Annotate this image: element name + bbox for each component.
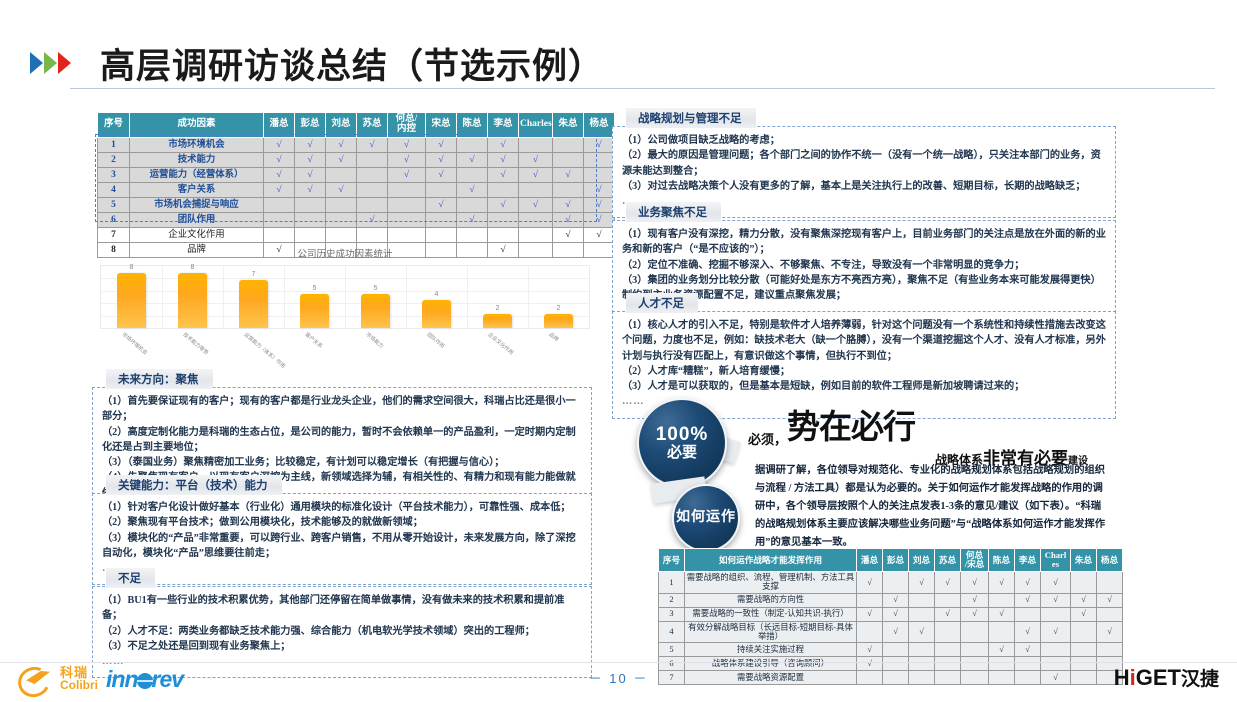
page-title: 高层调研访谈总结（节选示例） [100,38,604,89]
chart-x-label: 运营能力（体系）作用 [242,331,286,370]
chart-bar-value: 5 [303,285,327,292]
section-heading: 关键能力：平台（技术）能力 [106,475,282,495]
section-line: （3）模块化的“产品”非常重要，可以跨行业、跨客户销售，不用从零开始设计，未来发… [102,531,582,562]
check-cell [388,182,426,197]
row-label: 市场机会捕捉与响应 [130,197,264,212]
table-row: 4有效分解战略目标（长远目标-短期目标-具体举措）√√√√√ [659,621,1123,642]
check-cell: √ [584,197,615,212]
check-cell [488,182,519,197]
check-cell: √ [883,593,909,607]
check-cell [553,182,584,197]
check-cell [426,212,457,227]
check-cell: √ [326,152,357,167]
check-cell [457,167,488,182]
section-line: （2）人才不足：两类业务都缺乏技术能力强、综合能力（机电软光学技术领域）突出的工… [102,624,582,639]
chart-bar [544,314,572,328]
check-cell: √ [935,572,961,593]
table-row: 1市场环境机会√√√√√√√√ [98,137,615,152]
check-cell: √ [1071,607,1097,621]
check-cell [584,167,615,182]
table-column-header: 成功因素 [130,113,264,138]
check-cell: √ [388,167,426,182]
table-column-header: 陈总 [457,113,488,138]
check-cell [989,621,1015,642]
section-line: （3）人才是可以获取的，但是基本是短缺，例如目前的软件工程师是新加坡聘请过来的； [622,379,1106,394]
section-line: （2）高度定制化能力是科瑞的生态占位，是公司的能力，暂时不会依赖单一的产品盈利，… [102,425,582,456]
check-cell: √ [426,197,457,212]
chart-bar-value: 2 [486,305,510,312]
chevron-decoration-icon [30,52,71,74]
slide-header: 高层调研访谈总结（节选示例） [0,18,1237,90]
check-cell [295,197,326,212]
section-line: （1）首先要保证现有的客户；现有的客户都是行业龙头企业，他们的需求空间很大，科瑞… [102,394,582,425]
section-line: （2）人才库“糟糕”，新人培育缓慢； [622,364,1106,379]
check-cell: √ [1071,593,1097,607]
check-cell: √ [295,182,326,197]
check-cell: √ [883,607,909,621]
check-cell [909,593,935,607]
check-cell: √ [457,152,488,167]
check-cell [388,227,426,242]
table-row: 2技术能力√√√√√√√√ [98,152,615,167]
check-cell: √ [519,152,553,167]
row-label: 需要战略的方向性 [685,593,857,607]
check-cell: √ [909,621,935,642]
check-cell [989,593,1015,607]
chart-bar-value: 4 [425,291,449,298]
check-cell [883,572,909,593]
slogan-prefix: 必须， [748,429,787,448]
chart-x-label: 市场能力 [364,331,384,350]
table-column-header: 朱总 [1071,549,1097,572]
check-cell [388,212,426,227]
row-label: 客户关系 [130,182,264,197]
section-line: （1）BU1有一些行业的技术积累优势，其他部门还停留在简单做事情，没有做未来的技… [102,593,582,624]
chart-plot-area: 88755422 [100,265,590,329]
check-cell: √ [1015,621,1041,642]
operation-strategy-table: 序号如何运作战略才能发挥作用潘总彭总刘总苏总何总/宋总陈总李总Charles朱总… [658,548,1118,685]
check-cell: √ [357,137,388,152]
check-cell [388,197,426,212]
check-cell [1097,642,1123,656]
check-cell: √ [426,152,457,167]
table-row: 5市场机会捕捉与响应√√√√√ [98,197,615,212]
chart-x-label: 团队作用 [425,331,445,350]
row-index: 3 [659,607,685,621]
check-cell: √ [326,137,357,152]
check-cell [553,152,584,167]
chart-x-label: 客户关系 [303,331,323,350]
table-success-factors: 序号成功因素潘总彭总刘总苏总何总/内控宋总陈总李总Charles朱总杨总 1市场… [97,112,615,258]
check-cell [519,227,553,242]
check-cell [357,167,388,182]
chart-gridline [284,266,285,328]
chart-gridline [528,266,529,328]
slide-root: 高层调研访谈总结（节选示例） 序号成功因素潘总彭总刘总苏总何总/内控宋总陈总李总… [0,0,1237,699]
chart-bar-value: 2 [547,305,571,312]
check-cell [1097,572,1123,593]
logo-higet: HiGET汉捷 [1114,664,1219,691]
badge-100-percent: 100% 必要 [637,398,727,488]
row-index: 5 [659,642,685,656]
section-heading: 业务聚焦不足 [626,202,721,222]
check-cell [519,212,553,227]
row-label: 需要战略的一致性（制定-认知共识-执行） [685,607,857,621]
check-cell [426,182,457,197]
row-index: 5 [98,197,130,212]
check-cell [264,197,295,212]
check-cell [935,642,961,656]
check-cell: √ [264,182,295,197]
check-cell: √ [553,227,584,242]
check-cell [1041,642,1071,656]
check-cell [1071,642,1097,656]
check-cell: √ [488,137,519,152]
badge-how-to-operate: 如何运作 [672,484,740,552]
chart-bar [117,273,145,328]
check-cell [1071,621,1097,642]
section-heading: 人才不足 [626,293,698,313]
check-cell: √ [264,152,295,167]
section-heading: 未来方向：聚焦 [106,369,213,389]
section-line: （1）核心人才的引入不足，特别是软件才人培养薄弱，针对这个问题没有一个系统性和持… [622,318,1106,364]
row-index: 4 [98,182,130,197]
slogan-main: 势在必行 [787,400,915,448]
row-index: 3 [98,167,130,182]
table-operation: 序号如何运作战略才能发挥作用潘总彭总刘总苏总何总/宋总陈总李总Charles朱总… [658,548,1123,685]
table-column-header: 宋总 [426,113,457,138]
check-cell: √ [1041,572,1071,593]
check-cell [519,182,553,197]
table-row: 3需要战略的一致性（制定-认知共识-执行）√√√√√√ [659,607,1123,621]
check-cell [1071,572,1097,593]
check-cell: √ [584,227,615,242]
check-cell: √ [519,167,553,182]
check-cell [264,227,295,242]
table-column-header: 何总/宋总 [961,549,989,572]
table-body: 1市场环境机会√√√√√√√√2技术能力√√√√√√√√3运营能力（经营体系）√… [98,137,615,257]
chart-bar-value: 5 [364,285,388,292]
check-cell: √ [295,152,326,167]
table-row: 1需要战略的组织、流程、管理机制、方法工具支撑√√√√√√√ [659,572,1123,593]
table-column-header: 序号 [98,113,130,138]
table-column-header: 杨总 [584,113,615,138]
table-column-header: 陈总 [989,549,1015,572]
check-cell [426,227,457,242]
row-index: 4 [659,621,685,642]
table-column-header: 杨总 [1097,549,1123,572]
check-cell [1015,607,1041,621]
table-column-header: 潘总 [857,549,883,572]
check-cell [357,152,388,167]
check-cell: √ [295,167,326,182]
check-cell: √ [584,182,615,197]
section-line: （2）聚焦现有平台技术；做到公用模块化，技术能够及的就做新领域； [102,515,582,530]
check-cell: √ [1015,593,1041,607]
check-cell: √ [961,572,989,593]
row-label: 企业文化作用 [130,227,264,242]
chart-bar [361,294,389,328]
table-row: 3运营能力（经营体系）√√√√√√√ [98,167,615,182]
check-cell: √ [584,212,615,227]
success-factor-table: 序号成功因素潘总彭总刘总苏总何总/内控宋总陈总李总Charles朱总杨总 1市场… [97,112,594,258]
section-line: （1）针对客户化设计做好基本（行业化）通用模块的标准化设计（平台技术能力），可靠… [102,500,582,515]
check-cell: √ [961,593,989,607]
section-heading: 不足 [106,568,155,588]
row-label: 持续关注实施过程 [685,642,857,656]
check-cell [264,212,295,227]
table-column-header: Charles [1041,549,1071,572]
check-cell: √ [357,212,388,227]
table-column-header: 苏总 [357,113,388,138]
check-cell [857,593,883,607]
check-cell: √ [909,572,935,593]
table-row: 2需要战略的方向性√√√√√√ [659,593,1123,607]
row-index: 7 [98,227,130,242]
row-index: 2 [659,593,685,607]
check-cell [883,642,909,656]
table-column-header: 刘总 [909,549,935,572]
check-cell [295,212,326,227]
check-cell: √ [488,152,519,167]
check-cell [457,197,488,212]
row-label: 需要战略的组织、流程、管理机制、方法工具支撑 [685,572,857,593]
chart-bar [300,294,328,328]
section-heading: 战略规划与管理不足 [626,108,756,128]
chart-bar-value: 8 [181,264,205,271]
chart-x-label: 企业文化作用 [486,331,514,356]
check-cell: √ [488,197,519,212]
check-cell [1041,607,1071,621]
check-cell: √ [488,167,519,182]
check-cell: √ [553,197,584,212]
higet-cn: 汉捷 [1181,669,1219,690]
table-column-header: 李总 [488,113,519,138]
row-index: 6 [98,212,130,227]
check-cell: √ [883,621,909,642]
check-cell [295,227,326,242]
check-cell: √ [426,167,457,182]
check-cell [488,227,519,242]
check-cell [961,642,989,656]
check-cell: √ [1097,621,1123,642]
history-success-chart: 公司历史成功因素统计 88755422 市场环境机会技术能力等势运营能力（体系）… [100,246,590,369]
table-column-header: Charles [519,113,553,138]
check-cell: √ [457,212,488,227]
check-cell: √ [961,607,989,621]
chart-gridline [162,266,163,328]
row-label: 团队作用 [130,212,264,227]
check-cell: √ [457,182,488,197]
table-column-header: 刘总 [326,113,357,138]
table-column-header: 苏总 [935,549,961,572]
chart-gridline [406,266,407,328]
row-index: 1 [659,572,685,593]
chart-bar [422,300,450,328]
row-index: 2 [98,152,130,167]
section-line: （2）定位不准确、挖掘不够深入、不够聚焦、不专注，导致没有一个非常明显的竞争力； [622,258,1106,273]
check-cell: √ [857,642,883,656]
check-cell [357,227,388,242]
check-cell: √ [553,167,584,182]
section-line: （3）不足之处还是回到现有业务聚焦上； [102,639,582,654]
check-cell [553,137,584,152]
chart-x-axis-labels: 市场环境机会技术能力等势运营能力（体系）作用客户关系市场能力团队作用企业文化作用… [100,329,590,369]
check-cell: √ [857,607,883,621]
check-cell [488,212,519,227]
check-cell [326,167,357,182]
check-cell: √ [388,152,426,167]
check-cell [357,182,388,197]
check-cell: √ [989,572,1015,593]
chart-title: 公司历史成功因素统计 [100,246,590,260]
title-divider [70,88,1215,89]
table-header-row: 序号成功因素潘总彭总刘总苏总何总/内控宋总陈总李总Charles朱总杨总 [98,113,615,138]
check-cell: √ [584,137,615,152]
table-column-header: 如何运作战略才能发挥作用 [685,549,857,572]
check-cell: √ [519,197,553,212]
check-cell [961,621,989,642]
check-cell [457,137,488,152]
check-cell: √ [935,607,961,621]
check-cell [457,227,488,242]
table-row: 5持续关注实施过程√√√ [659,642,1123,656]
check-cell: √ [1015,572,1041,593]
check-cell: √ [264,167,295,182]
check-cell [909,642,935,656]
badge-line-1: 如何运作 [676,511,736,526]
check-cell: √ [857,572,883,593]
table-column-header: 序号 [659,549,685,572]
chart-x-label: 市场环境机会 [120,331,148,356]
chart-x-label: 技术能力等势 [181,331,209,356]
check-cell [326,212,357,227]
check-cell: √ [388,137,426,152]
footer-divider [0,662,1237,663]
check-cell [909,607,935,621]
chart-gridline [223,266,224,328]
chart-gridline [345,266,346,328]
check-cell: √ [1041,593,1071,607]
check-cell: √ [1015,642,1041,656]
row-label: 技术能力 [130,152,264,167]
section-line: （1）公司做项目缺乏战略的考虑； [622,133,1106,148]
check-cell [357,197,388,212]
chart-bar [178,273,206,328]
section-line: （3）对过去战略决策个人没有更多的了解，基本上是关注执行上的改善、短期目标，长期… [622,179,1106,194]
badge-line-1: 100% [656,425,709,445]
check-cell: √ [326,182,357,197]
table-row: 7企业文化作用√√ [98,227,615,242]
check-cell: √ [295,137,326,152]
table-column-header: 彭总 [883,549,909,572]
check-cell [326,227,357,242]
slogan-block: 必须， 势在必行 战略体系非常有必要建设 [748,400,1088,469]
page-number: － 10 － [0,668,1237,687]
check-cell: √ [264,137,295,152]
table-column-header: 何总/内控 [388,113,426,138]
check-cell: √ [553,212,584,227]
check-cell [519,137,553,152]
row-label: 运营能力（经营体系） [130,167,264,182]
check-cell [935,593,961,607]
check-cell [857,621,883,642]
check-cell: √ [1041,621,1071,642]
chart-bar [239,280,267,328]
check-cell [935,621,961,642]
table-row: 4客户关系√√√√√ [98,182,615,197]
table-header-row: 序号如何运作战略才能发挥作用潘总彭总刘总苏总何总/宋总陈总李总Charles朱总… [659,549,1123,572]
chart-bar [483,314,511,328]
chart-bar-value: 7 [242,271,266,278]
check-cell [326,197,357,212]
table-column-header: 李总 [1015,549,1041,572]
chart-x-label: 品牌 [547,331,559,343]
check-cell: √ [426,137,457,152]
row-label: 有效分解战略目标（长远目标-短期目标-具体举措） [685,621,857,642]
chart-bar-value: 8 [120,264,144,271]
table-column-header: 朱总 [553,113,584,138]
section-line: （1）现有客户没有深挖，精力分散，没有聚焦深挖现有客户上，目前业务部门的关注点是… [622,227,1106,258]
check-cell [1097,607,1123,621]
table-row: 6团队作用√√√√ [98,212,615,227]
check-cell: √ [1097,593,1123,607]
summary-paragraph: 据调研了解，各位领导对规范化、专业化的战略规划体系包括战略规划的组织与流程 / … [755,462,1107,552]
check-cell: √ [989,607,1015,621]
badge-line-2: 必要 [667,445,697,462]
row-index: 1 [98,137,130,152]
chart-gridline [467,266,468,328]
table-column-header: 彭总 [295,113,326,138]
row-label: 市场环境机会 [130,137,264,152]
check-cell [584,152,615,167]
section-line: （3）（泰国业务）聚焦精密加工业务；比较稳定，有计划可以稳定增长（有把握与信心）… [102,455,582,470]
section-line: （2）最大的原因是管理问题；各个部门之间的协作不统一（没有一个统一战略），只关注… [622,148,1106,179]
table-column-header: 潘总 [264,113,295,138]
check-cell: √ [989,642,1015,656]
